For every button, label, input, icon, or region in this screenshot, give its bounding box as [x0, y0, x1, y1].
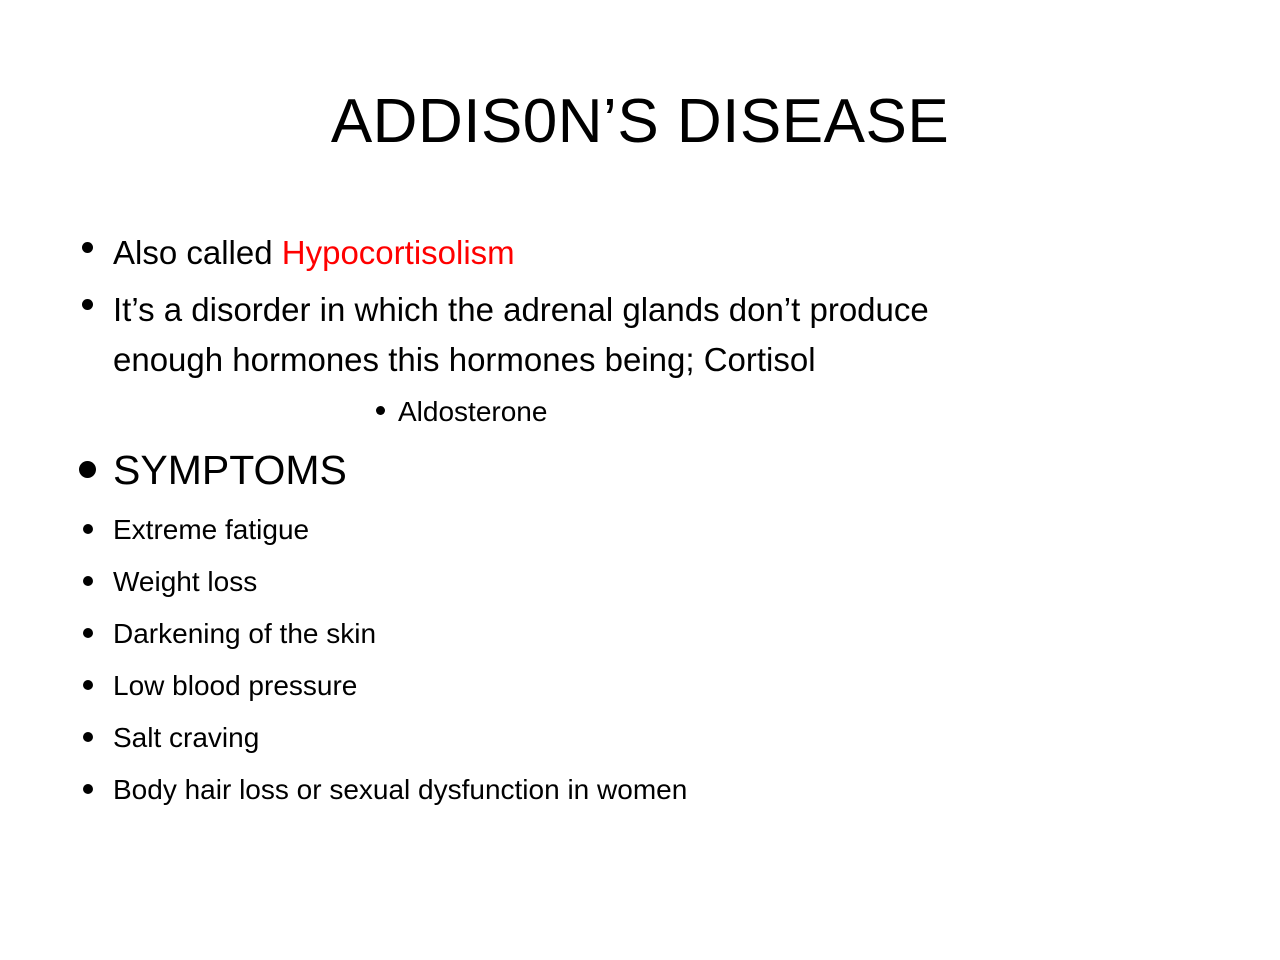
symptom-item-text: Body hair loss or sexual dysfunction in … [113, 767, 1280, 813]
list-item: Weight loss [0, 559, 1280, 611]
bullet-marker-icon [376, 406, 385, 415]
list-item: Salt craving [0, 715, 1280, 767]
bullet-marker-icon [83, 732, 93, 742]
bullet-also-called: Also called Hypocortisolism [0, 228, 1280, 285]
presentation-slide: ADDIS0N’S DISEASE Also called Hypocortis… [0, 0, 1280, 960]
bullet-also-called-text: Also called Hypocortisolism [113, 228, 1140, 278]
slide-body: Also called Hypocortisolism It’s a disor… [0, 228, 1280, 819]
symptom-item-text: Darkening of the skin [113, 611, 1280, 657]
bullet-definition: It’s a disorder in which the adrenal gla… [0, 285, 1280, 389]
definition-line-1: It’s a disorder in which the adrenal gla… [113, 285, 1140, 335]
bullet-marker-icon [82, 299, 93, 310]
list-item: Darkening of the skin [0, 611, 1280, 663]
bullet-marker-icon [83, 628, 93, 638]
sub-bullet-aldosterone: Aldosterone [0, 389, 1280, 443]
symptom-item-text: Extreme fatigue [113, 507, 1280, 553]
bullet-marker-icon [83, 680, 93, 690]
list-item: Body hair loss or sexual dysfunction in … [0, 767, 1280, 819]
symptom-item-text: Salt craving [113, 715, 1280, 761]
sub-bullet-aldosterone-text: Aldosterone [398, 389, 1280, 435]
bullet-marker-icon [83, 784, 93, 794]
list-item: Extreme fatigue [0, 507, 1280, 559]
symptom-item-text: Weight loss [113, 559, 1280, 605]
list-item: Low blood pressure [0, 663, 1280, 715]
bullet-symptoms-heading: SYMPTOMS [0, 443, 1280, 507]
bullet-marker-icon [83, 524, 93, 534]
bullet-marker-icon [79, 461, 96, 478]
definition-line-2: enough hormones this hormones being; Cor… [113, 335, 1140, 385]
bullet-marker-icon [83, 576, 93, 586]
slide-title: ADDIS0N’S DISEASE [0, 86, 1280, 158]
symptoms-heading-text: SYMPTOMS [113, 443, 1280, 497]
bullet-marker-icon [82, 242, 93, 253]
hypocortisolism-term: Hypocortisolism [282, 234, 515, 271]
also-called-prefix: Also called [113, 234, 282, 271]
symptom-item-text: Low blood pressure [113, 663, 1280, 709]
